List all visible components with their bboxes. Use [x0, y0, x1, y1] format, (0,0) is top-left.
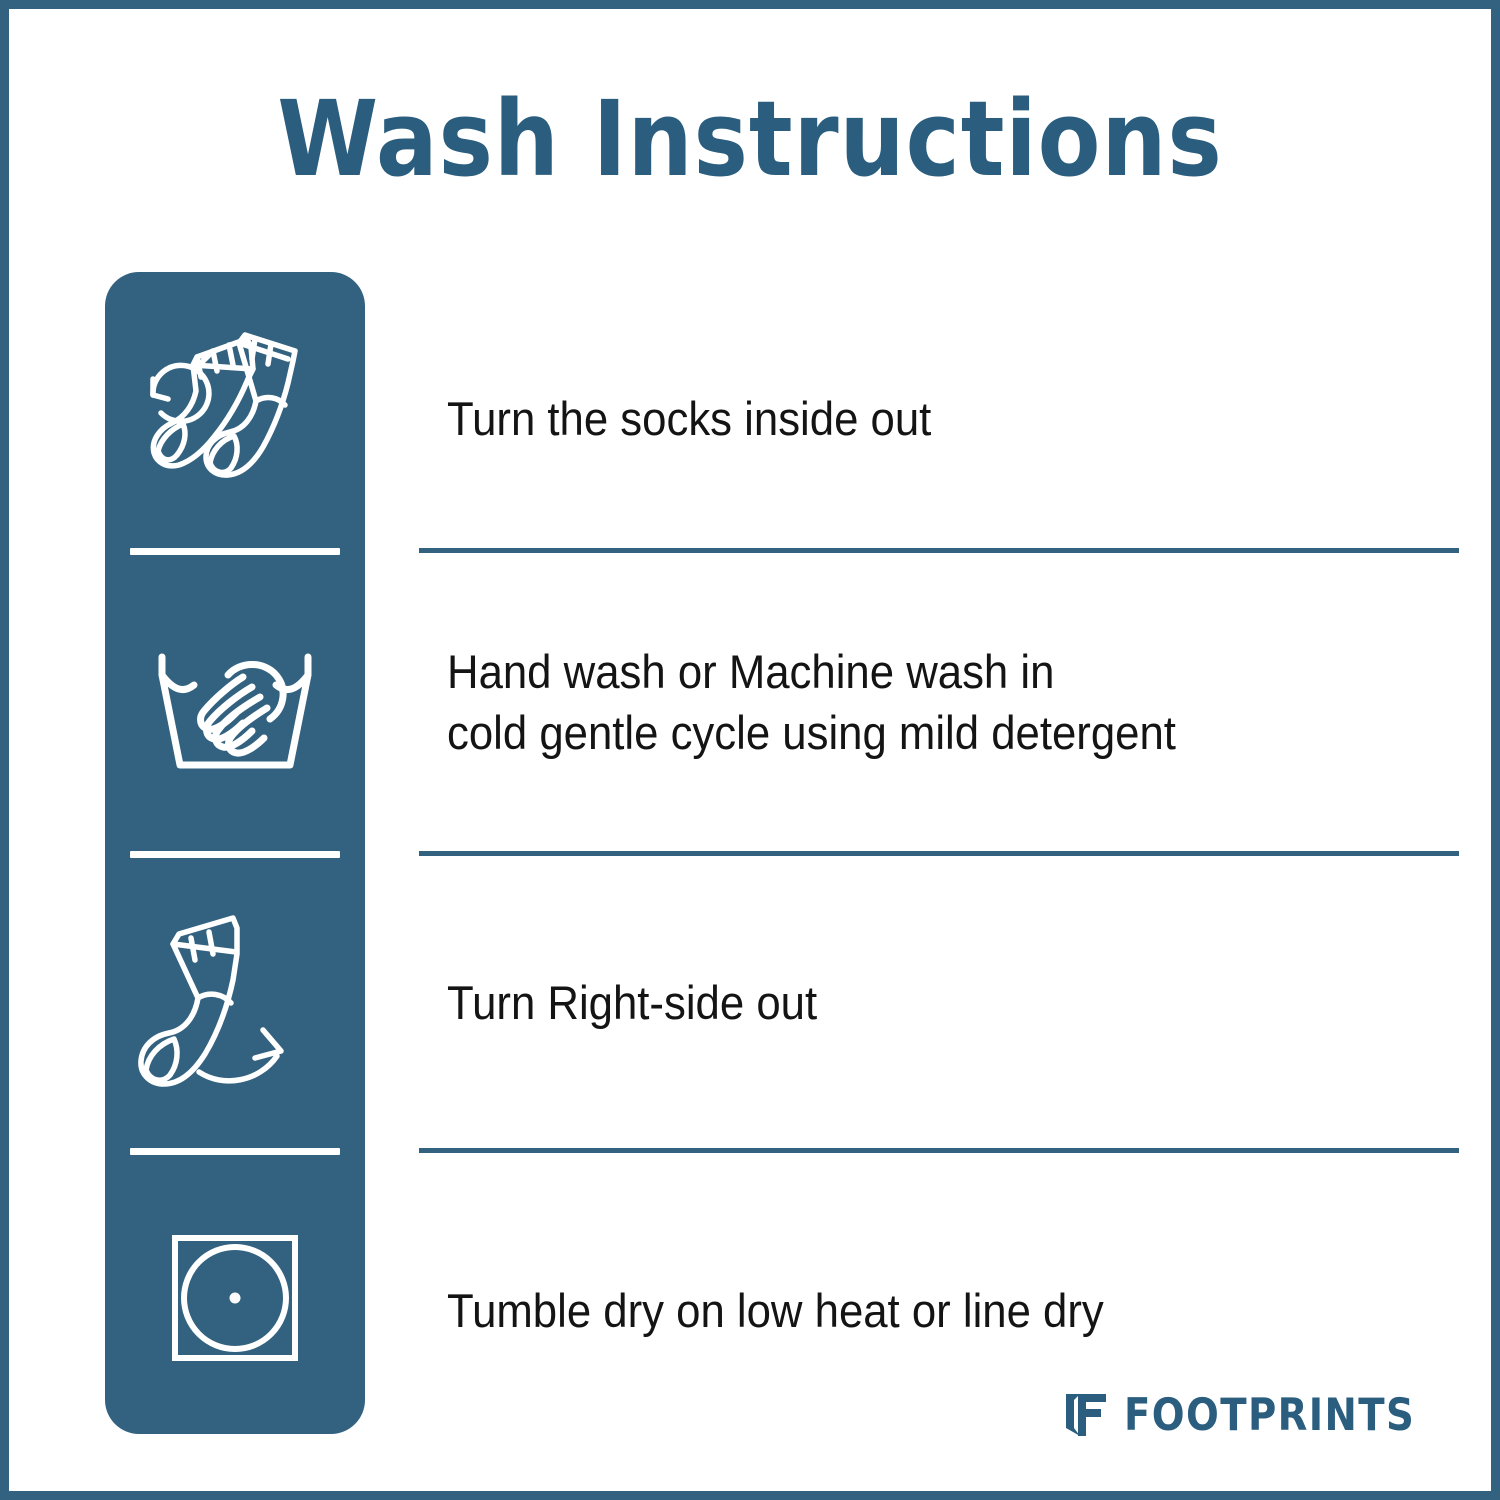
sock-turn-right-side-out-icon [135, 912, 335, 1112]
instruction-line: Hand wash or Machine wash in [447, 641, 1176, 702]
rail-divider-1 [130, 548, 340, 555]
icon-cell-hand-wash [105, 562, 365, 862]
icon-cell-turn-inside-out [105, 272, 365, 562]
icon-cell-tumble-dry [105, 1162, 365, 1434]
wash-instructions-card: Wash Instructions [0, 0, 1500, 1500]
tumble-dry-low-icon [165, 1228, 305, 1368]
text-divider-1 [419, 548, 1459, 553]
instruction-text-1: Turn the socks inside out [447, 388, 931, 449]
instruction-line: cold gentle cycle using mild detergent [447, 702, 1176, 763]
instruction-line: Tumble dry on low heat or line dry [447, 1280, 1104, 1341]
instruction-line: Turn Right-side out [447, 972, 817, 1033]
rail-divider-2 [130, 851, 340, 858]
socks-pair-rotate-icon [135, 317, 335, 517]
instruction-text-3: Turn Right-side out [447, 972, 817, 1033]
footprints-f-mark-icon [1064, 1392, 1108, 1438]
brand-wordmark: FOOTPRINTS [1124, 1389, 1415, 1441]
instruction-line: Turn the socks inside out [447, 388, 931, 449]
icon-rail-panel [105, 272, 365, 1434]
hand-wash-basin-icon [140, 617, 330, 807]
icon-cell-turn-right-side-out [105, 862, 365, 1162]
instruction-text-2: Hand wash or Machine wash in cold gentle… [447, 641, 1176, 763]
rail-divider-3 [130, 1148, 340, 1155]
brand-logo: FOOTPRINTS [1064, 1390, 1441, 1439]
instruction-text-4: Tumble dry on low heat or line dry [447, 1280, 1104, 1341]
text-divider-2 [419, 851, 1459, 856]
page-title: Wash Instructions [98, 85, 1402, 194]
instruction-text-column: Turn the socks inside out Hand wash or M… [419, 272, 1459, 1434]
text-divider-3 [419, 1148, 1459, 1153]
